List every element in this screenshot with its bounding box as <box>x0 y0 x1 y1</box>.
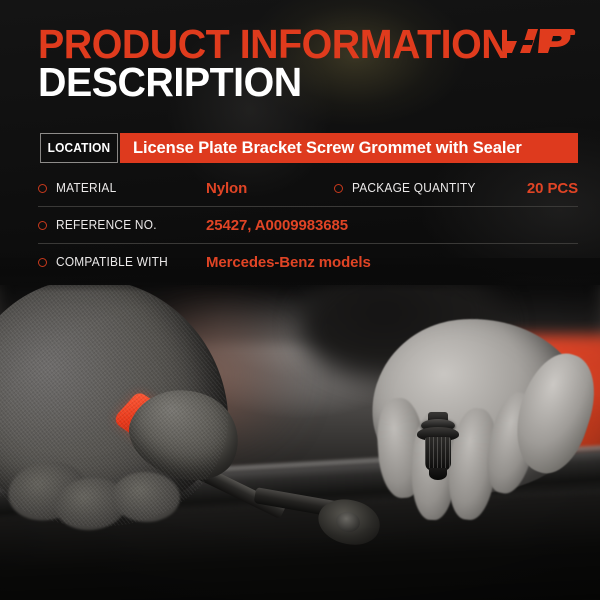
spec-value: Nylon <box>206 180 247 197</box>
product-information-graphic: PRODUCT INFORMATION DESCRIPTION LOCATION… <box>0 0 600 600</box>
spec-value: 25427, A0009983685 <box>206 217 348 234</box>
bullet-circle-icon <box>38 184 47 193</box>
page-subtitle: DESCRIPTION <box>38 62 302 103</box>
spec-cell-material: MATERIAL Nylon <box>38 170 308 206</box>
bullet-circle-icon <box>38 221 47 230</box>
bullet-circle-icon <box>38 258 47 267</box>
spec-value: Mercedes-Benz models <box>206 254 371 271</box>
spec-cell-compatible-with: COMPATIBLE WITH Mercedes-Benz models <box>38 244 578 280</box>
spec-row: COMPATIBLE WITH Mercedes-Benz models <box>38 244 578 280</box>
spec-cell-reference-no: REFERENCE NO. 25427, A0009983685 <box>38 207 578 243</box>
spec-row: REFERENCE NO. 25427, A0009983685 <box>38 207 578 244</box>
specification-table: MATERIAL Nylon PACKAGE QUANTITY 20 PCS R… <box>38 170 578 280</box>
spec-row: MATERIAL Nylon PACKAGE QUANTITY 20 PCS <box>38 170 578 207</box>
product-title: License Plate Bracket Screw Grommet with… <box>120 133 578 163</box>
ap-brand-logo-icon <box>504 27 576 61</box>
spec-value: 20 PCS <box>527 180 578 197</box>
spec-label: COMPATIBLE WITH <box>56 255 168 269</box>
bullet-circle-icon <box>334 184 343 193</box>
location-bar: LOCATION License Plate Bracket Screw Gro… <box>38 133 578 163</box>
spec-label: PACKAGE QUANTITY <box>352 181 476 195</box>
grommet-clip-tip <box>429 468 447 480</box>
spec-label: REFERENCE NO. <box>56 218 157 232</box>
spec-cell-package-quantity: PACKAGE QUANTITY 20 PCS <box>308 170 578 206</box>
grommet-clip-body <box>425 437 451 471</box>
location-badge: LOCATION <box>40 133 118 163</box>
spec-label: MATERIAL <box>56 181 116 195</box>
